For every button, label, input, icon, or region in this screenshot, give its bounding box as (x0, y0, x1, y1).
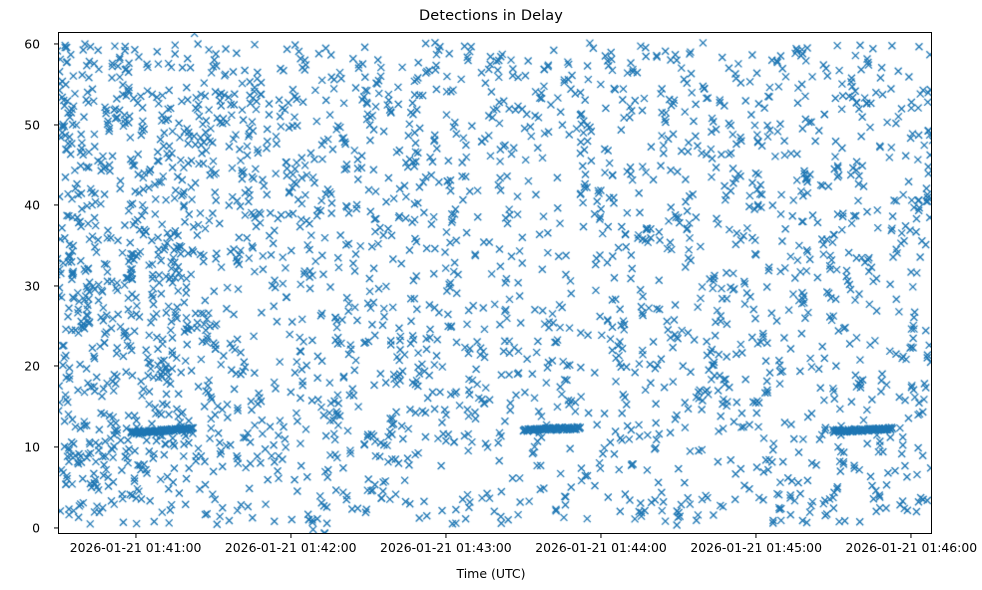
x-axis-tick-label: 2026-01-21 01:45:00 (690, 540, 822, 555)
y-axis-tick-label: 60 (0, 37, 40, 52)
y-axis-tick-label: 30 (0, 278, 40, 293)
y-axis-tick-label: 50 (0, 117, 40, 132)
scatter-points-layer (59, 33, 931, 533)
y-axis-tick-label: 10 (0, 439, 40, 454)
y-axis-tick-label: 40 (0, 198, 40, 213)
x-axis-tick-mark (911, 534, 912, 538)
x-axis-tick-label: 2026-01-21 01:44:00 (535, 540, 667, 555)
page-title: Detections in Delay (0, 8, 982, 24)
y-axis-tick-label: 20 (0, 359, 40, 374)
plot-area (58, 32, 932, 534)
x-axis-tick-mark (756, 534, 757, 538)
x-axis-tick-mark (135, 534, 136, 538)
y-axis-tick-label: 0 (0, 520, 40, 535)
x-axis-tick-label: 2026-01-21 01:42:00 (225, 540, 357, 555)
x-axis-tick-mark (290, 534, 291, 538)
x-axis-tick-mark (445, 534, 446, 538)
x-axis-tick-label: 2026-01-21 01:46:00 (846, 540, 978, 555)
x-axis-label: Time (UTC) (0, 566, 982, 581)
x-axis-tick-label: 2026-01-21 01:41:00 (70, 540, 202, 555)
x-axis-tick-label: 2026-01-21 01:43:00 (380, 540, 512, 555)
scatter-plot-figure: Detections in Delay Bistatic Delay (km) … (0, 0, 982, 590)
x-axis-tick-mark (600, 534, 601, 538)
